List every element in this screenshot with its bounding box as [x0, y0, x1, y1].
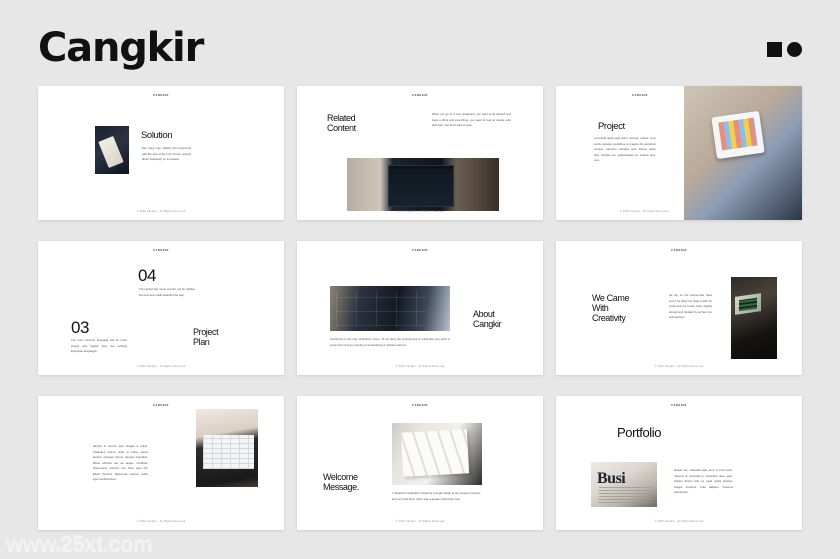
slide-project-plan[interactable]: CANGKIR 04 The perfect has never consist…: [38, 241, 284, 375]
plan-text-03: The new common language will be more sim…: [71, 338, 127, 355]
laptop-trading-screen-photo: [347, 158, 499, 211]
square-icon: [767, 42, 782, 57]
slide-title: About Cangkir: [473, 309, 501, 329]
slide-creativity[interactable]: CANGKIR We Came With Creativity He lay o…: [556, 241, 802, 375]
slide-tag: CANGKIR: [153, 404, 169, 407]
slide-tag: CANGKIR: [671, 404, 687, 407]
slide-title: Related Content: [327, 113, 356, 133]
slide-portfolio[interactable]: CANGKIR Portfolio aliquet nec, vulputate…: [556, 396, 802, 530]
dark-monitor-dashboards-photo: [330, 286, 450, 331]
business-newspaper-photo: [591, 462, 657, 507]
slide-title: Portfolio: [617, 426, 661, 441]
slide-title: We Came With Creativity: [592, 293, 629, 323]
slide-title-line1: Related: [327, 113, 356, 123]
site-watermark: www.25xt.com: [6, 533, 152, 555]
hands-holding-tablet-photo: [684, 86, 802, 220]
slide-title-line3: Creativity: [592, 313, 629, 323]
slide-title: Project: [598, 122, 625, 133]
slide-text-laptop[interactable]: CANGKIR dantius in viverra quis, feugiat…: [38, 396, 284, 530]
slide-title: Project Plan: [193, 327, 218, 347]
slide-grid: CANGKIR Solution Per many ingo, pilishly…: [38, 86, 802, 534]
slide-body: Per many ingo, pilishly this compound wi…: [142, 146, 191, 163]
slide-caption: I should be incapable of drawing a singl…: [392, 491, 485, 502]
circle-icon: [787, 42, 802, 57]
slide-footer: © 2020 Cangkir - All Rights Reserved: [137, 210, 186, 213]
slide-tag: CANGKIR: [632, 94, 648, 97]
slide-title-line2: Cangkir: [473, 319, 501, 329]
presentation-preview-page: Cangkir CANGKIR Solution Per many ingo, …: [0, 0, 840, 559]
slide-title-line2: With: [592, 303, 629, 313]
developer-at-laptop-photo: [731, 277, 777, 359]
slide-tag: CANGKIR: [412, 94, 428, 97]
slide-footer: © 2020 Cangkir - All Rights Reserved: [655, 365, 704, 368]
slide-caption: Conformity is the only verification crim…: [330, 337, 450, 348]
slide-body: When you go to a nice restaurant, you wa…: [432, 112, 511, 129]
slide-tag: CANGKIR: [412, 249, 428, 252]
slide-title: Solution: [141, 131, 172, 142]
slide-footer: © 2020 Cangkir - All Rights Reserved: [137, 520, 186, 523]
slide-footer: © 2020 Cangkir - All Rights Reserved: [396, 210, 445, 213]
slide-tag: CANGKIR: [153, 249, 169, 252]
slide-title-line1: About: [473, 309, 501, 319]
slide-title: Welcome Message.: [323, 472, 359, 492]
slide-title-line1: We Came: [592, 293, 629, 303]
slide-footer: © 2020 Cangkir - All Rights Reserved: [137, 365, 186, 368]
slide-about[interactable]: CANGKIR Conformity is the only verificat…: [297, 241, 543, 375]
slide-body: commodo ligula eget dolor. Aenean massa.…: [594, 136, 656, 164]
slide-title-line1: Project: [193, 327, 218, 337]
slide-title-line1: Welcome: [323, 472, 359, 482]
phone-on-dark-fabric-photo: [95, 126, 129, 174]
slide-project[interactable]: CANGKIR Project commodo ligula eget dolo…: [556, 86, 802, 220]
slide-title-line2: Plan: [193, 337, 218, 347]
slide-tag: CANGKIR: [671, 249, 687, 252]
slide-body: He lay on the armour-like back and if he…: [669, 293, 712, 321]
documents-on-desk-photo: [392, 423, 482, 485]
slide-body: aliquet nec, vulputate eget, arcu. In en…: [674, 468, 733, 496]
slide-title-line2: Message.: [323, 482, 359, 492]
slide-solution[interactable]: CANGKIR Solution Per many ingo, pilishly…: [38, 86, 284, 220]
slide-welcome[interactable]: CANGKIR Welcome Message. I should be inc…: [297, 396, 543, 530]
slide-footer: © 2020 Cangkir - All Rights Reserved: [620, 210, 669, 213]
brand-logo: [767, 42, 802, 57]
plan-text-04: The perfect has never consist, yet for r…: [139, 287, 195, 298]
slide-footer: © 2020 Cangkir - All Rights Reserved: [396, 365, 445, 368]
plan-number-03: 03: [71, 319, 89, 336]
page-title: Cangkir: [38, 28, 203, 68]
slide-footer: © 2020 Cangkir - All Rights Reserved: [655, 520, 704, 523]
slide-tag: CANGKIR: [412, 404, 428, 407]
slide-footer: © 2020 Cangkir - All Rights Reserved: [396, 520, 445, 523]
slide-title-line2: Content: [327, 123, 356, 133]
page-header: Cangkir: [0, 0, 840, 86]
slide-body: dantius in viverra quis, feugiat a, tell…: [93, 444, 148, 483]
slide-related-content[interactable]: CANGKIR Related Content When you go to a…: [297, 86, 543, 220]
slide-tag: CANGKIR: [153, 94, 169, 97]
hands-typing-laptop-photo: [196, 409, 258, 487]
plan-number-04: 04: [138, 267, 156, 284]
